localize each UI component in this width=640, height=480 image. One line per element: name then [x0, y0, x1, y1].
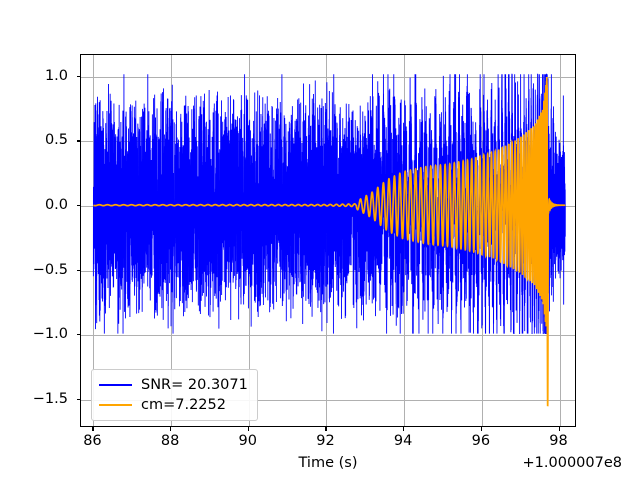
- x-tick-label: 88: [161, 433, 179, 449]
- legend-item-chirp-mass: cm=7.2252: [99, 395, 248, 415]
- x-tick-label: 92: [316, 433, 334, 449]
- y-tick-mark: [77, 334, 81, 335]
- x-tick-mark: [92, 427, 93, 431]
- y-axis-label: Whitened strain: [0, 182, 2, 297]
- y-tick-label: −0.5: [33, 262, 68, 278]
- x-tick-mark: [403, 427, 404, 431]
- x-tick-label: 86: [83, 433, 101, 449]
- legend-label-chirp-mass: cm=7.2252: [141, 397, 226, 413]
- legend-swatch-noise: [99, 384, 132, 386]
- y-tick-label: −1.0: [33, 326, 68, 342]
- legend-swatch-template: [99, 404, 132, 406]
- y-tick-mark: [77, 270, 81, 271]
- y-tick-label: 0.5: [45, 132, 68, 148]
- y-tick-label: −1.5: [33, 391, 68, 407]
- x-tick-mark: [481, 427, 482, 431]
- x-axis-label: Time (s): [299, 455, 358, 471]
- x-tick-mark: [325, 427, 326, 431]
- x-tick-mark: [559, 427, 560, 431]
- x-tick-mark: [170, 427, 171, 431]
- y-tick-label: 1.0: [45, 68, 68, 84]
- x-tick-label: 94: [394, 433, 412, 449]
- x-tick-label: 98: [549, 433, 567, 449]
- legend: SNR= 20.3071 cm=7.2252: [91, 369, 258, 421]
- x-axis-offset-text: +1.000007e8: [523, 455, 622, 471]
- legend-item-snr: SNR= 20.3071: [99, 375, 248, 395]
- y-tick-label: 0.0: [45, 197, 68, 213]
- y-tick-mark: [77, 140, 81, 141]
- y-tick-mark: [77, 399, 81, 400]
- x-tick-label: 96: [472, 433, 490, 449]
- figure-canvas: 86889092949698 −1.5−1.0−0.50.00.51.0 Tim…: [0, 0, 640, 480]
- y-tick-mark: [77, 76, 81, 77]
- x-tick-label: 90: [239, 433, 257, 449]
- y-tick-mark: [77, 205, 81, 206]
- legend-label-snr: SNR= 20.3071: [141, 377, 248, 393]
- x-tick-mark: [248, 427, 249, 431]
